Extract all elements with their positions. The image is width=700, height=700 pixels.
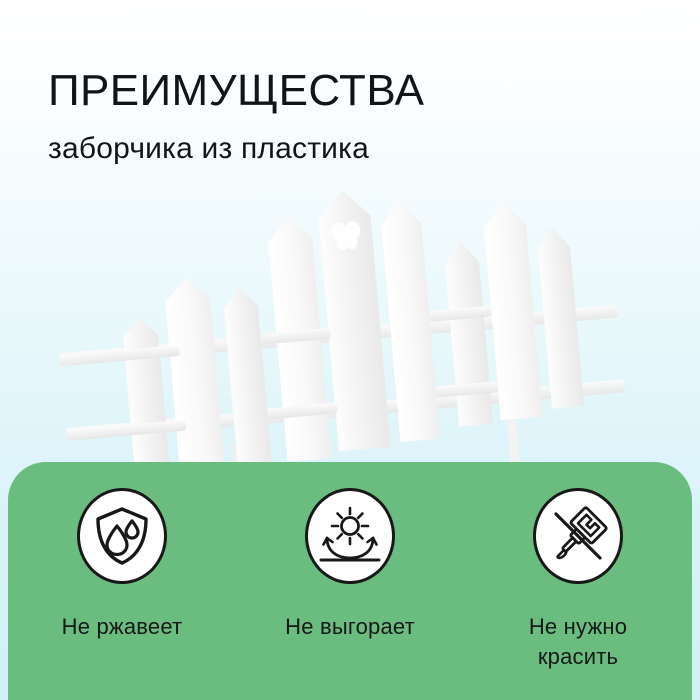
benefits-poster: ПРЕИМУЩЕСТВА заборчика из пластика [0,0,700,700]
benefit-label-no-painting: Не нужно красить [529,612,627,672]
badge-circle-no-painting [533,488,623,584]
benefit-label-no-rust: Не ржавеет [62,612,183,642]
page-title: ПРЕИМУЩЕСТВА [48,66,648,116]
benefit-item-no-fade: Не выгорает [250,488,450,642]
page-subtitle: заборчика из пластика [48,130,648,168]
benefits-panel: Не ржавеет [8,462,692,700]
shield-water-drop-icon [92,505,152,567]
fence-illustration [0,178,700,478]
badge-circle-no-fade [305,488,395,584]
hero-fence-image [0,178,700,478]
benefits-list: Не ржавеет [8,462,692,700]
benefit-item-no-painting: Не нужно красить [478,488,678,672]
benefit-item-no-rust: Не ржавеет [22,488,222,642]
benefit-label-no-fade: Не выгорает [285,612,415,642]
sun-reflect-surface-icon [318,506,382,566]
heading-block: ПРЕИМУЩЕСТВА заборчика из пластика [48,66,648,168]
badge-circle-no-rust [77,488,167,584]
paint-roller-prohibited-icon [546,504,610,568]
